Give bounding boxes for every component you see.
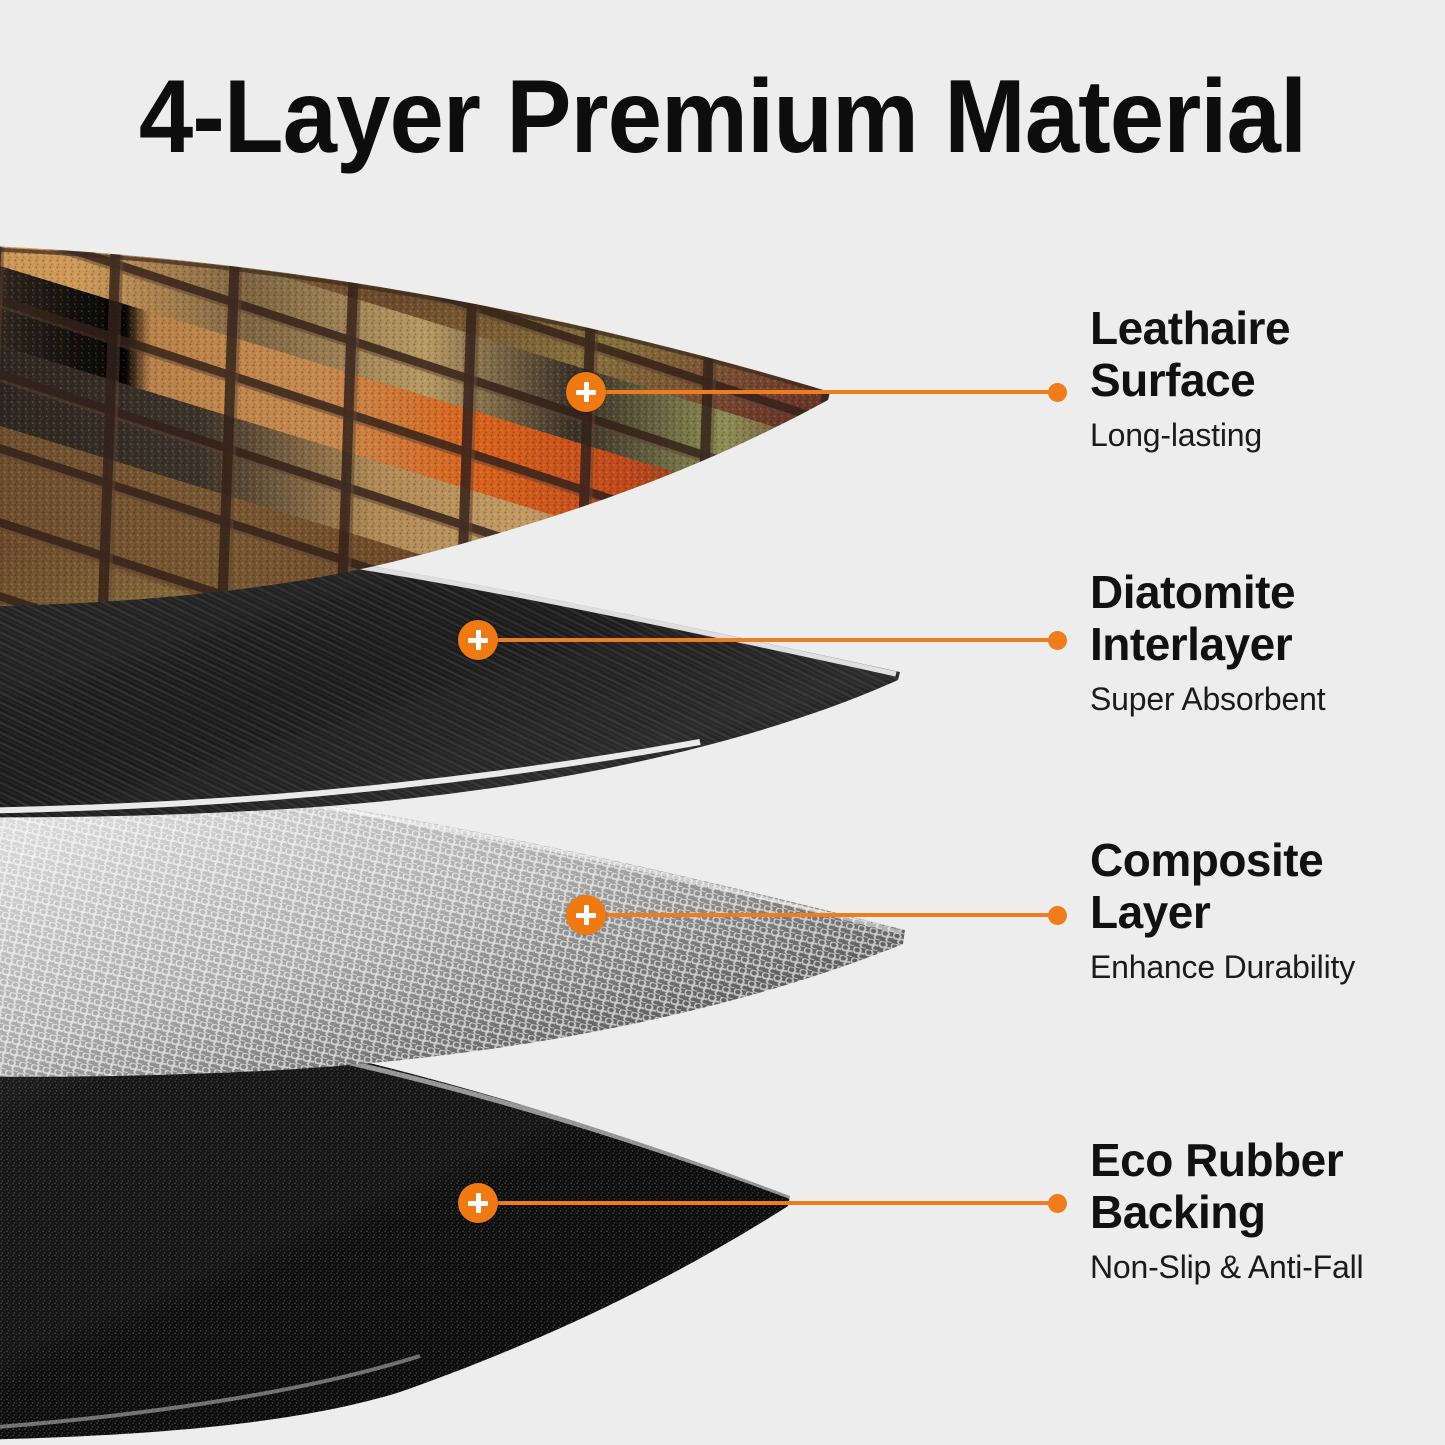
product-infographic: 4-Layer Premium Material Leathaire Surfa… xyxy=(0,0,1445,1445)
plus-icon-composite-layer[interactable] xyxy=(566,895,606,935)
plus-icon-diatomite-interlayer[interactable] xyxy=(458,620,498,660)
callout-title: Composite Layer xyxy=(1090,834,1430,938)
leader-lines xyxy=(478,392,1057,1203)
leader-dot-diatomite-interlayer xyxy=(1048,631,1067,650)
leader-dot-composite-layer xyxy=(1048,906,1067,925)
callout-subtitle: Non-Slip & Anti-Fall xyxy=(1090,1247,1430,1287)
callout-title: Leathaire Surface xyxy=(1090,302,1430,406)
callout-subtitle: Long-lasting xyxy=(1090,415,1430,455)
callout-composite-layer: Composite Layer Enhance Durability xyxy=(1090,834,1430,987)
callout-title: Diatomite Interlayer xyxy=(1090,566,1430,670)
callout-eco-rubber-backing: Eco Rubber Backing Non-Slip & Anti-Fall xyxy=(1090,1134,1430,1287)
callout-subtitle: Enhance Durability xyxy=(1090,947,1430,987)
plus-icon-leathaire-surface[interactable] xyxy=(566,372,606,412)
leader-dot-leathaire-surface xyxy=(1048,383,1067,402)
page-title: 4-Layer Premium Material xyxy=(43,62,1401,172)
plus-icon-eco-rubber-backing[interactable] xyxy=(458,1183,498,1223)
callout-subtitle: Super Absorbent xyxy=(1090,679,1430,719)
callout-title: Eco Rubber Backing xyxy=(1090,1134,1430,1238)
callout-diatomite-interlayer: Diatomite Interlayer Super Absorbent xyxy=(1090,566,1430,719)
callout-leathaire-surface: Leathaire Surface Long-lasting xyxy=(1090,302,1430,455)
leader-dot-eco-rubber-backing xyxy=(1048,1194,1067,1213)
